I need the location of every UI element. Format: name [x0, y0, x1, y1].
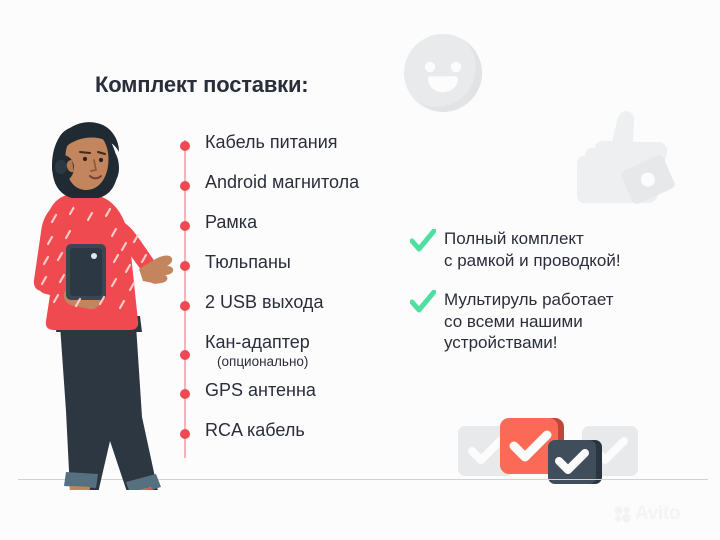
list-item-label: 2 USB выхода [205, 292, 428, 314]
benefits-list: Полный комплект с рамкой и проводкой! Му… [410, 228, 700, 372]
checkbox-cards-icon [458, 404, 638, 486]
list-item: Кабель питания [178, 132, 428, 172]
avito-watermark-text: Avito [635, 503, 680, 525]
bullet-dot-icon [180, 221, 190, 231]
promo-image: Комплект поставки: Кабель питания Androi… [0, 0, 720, 540]
woman-illustration [8, 110, 180, 490]
list-item-sublabel: (опционально) [205, 354, 428, 370]
bullet-dot-icon [180, 261, 190, 271]
smiley-face-icon [404, 34, 482, 112]
kit-list: Кабель питания Android магнитола Рамка Т… [178, 132, 428, 460]
bullet-dot-icon [180, 429, 190, 439]
bullet-dot-icon [180, 141, 190, 151]
list-item: RCA кабель [178, 420, 428, 460]
green-check-icon [410, 290, 436, 314]
list-item: Рамка [178, 212, 428, 252]
list-item: 2 USB выхода [178, 292, 428, 332]
list-item-label: Android магнитола [205, 172, 428, 194]
list-item-label: RCA кабель [205, 420, 428, 442]
list-item-label: Кабель питания [205, 132, 428, 154]
list-item: Тюльпаны [178, 252, 428, 292]
bullet-dot-icon [180, 350, 190, 360]
list-item: Android магнитола [178, 172, 428, 212]
benefit-item: Полный комплект с рамкой и проводкой! [410, 228, 700, 271]
thumbs-up-icon [572, 108, 680, 220]
list-item: GPS антенна [178, 380, 428, 420]
bullet-dot-icon [180, 389, 190, 399]
avito-watermark: Avito [614, 503, 680, 525]
green-check-icon [410, 229, 436, 253]
avito-logo-icon [614, 506, 631, 523]
benefit-text: Мультируль работает со всеми нашими устр… [444, 289, 700, 354]
bullet-dot-icon [180, 301, 190, 311]
list-item: Кан-адаптер (опционально) [178, 332, 428, 380]
benefit-item: Мультируль работает со всеми нашими устр… [410, 289, 700, 354]
benefit-text: Полный комплект с рамкой и проводкой! [444, 228, 700, 271]
page-title: Комплект поставки: [95, 72, 308, 98]
list-item-label: Рамка [205, 212, 428, 234]
bullet-dot-icon [180, 181, 190, 191]
list-item-label: Тюльпаны [205, 252, 428, 274]
list-item-label: GPS антенна [205, 380, 428, 402]
list-item-label: Кан-адаптер [205, 332, 428, 354]
